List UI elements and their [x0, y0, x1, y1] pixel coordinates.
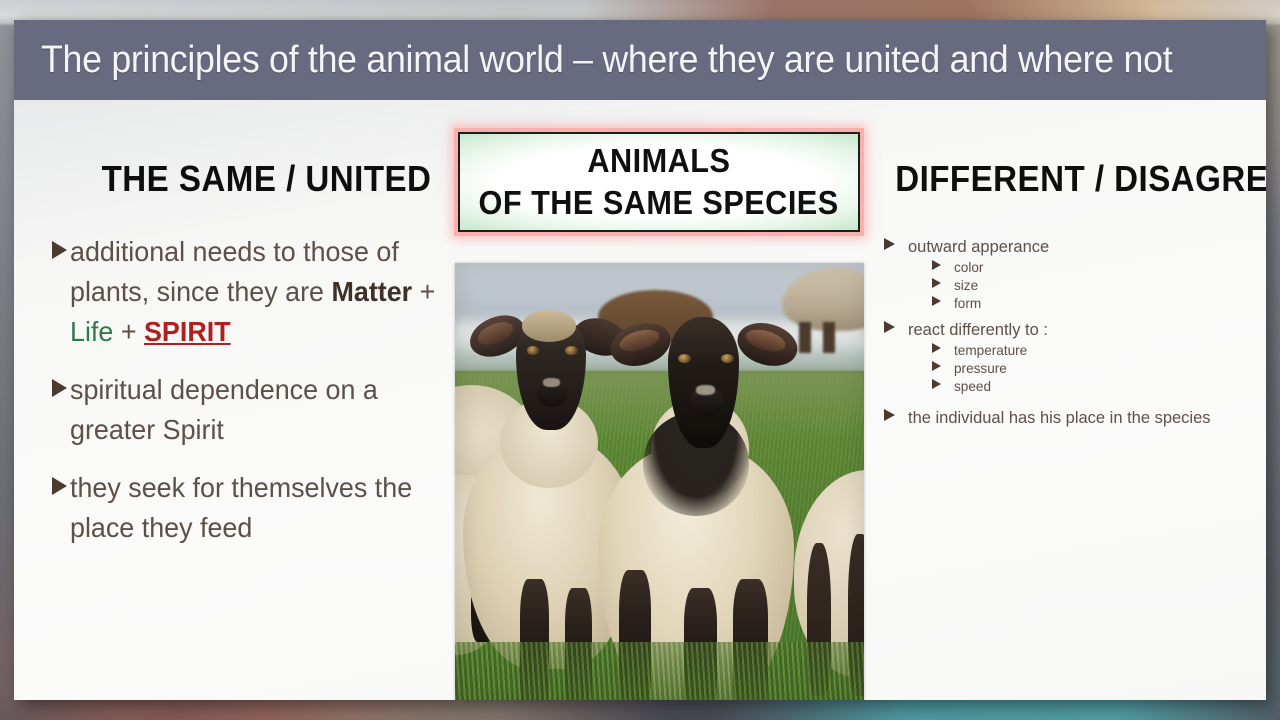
- triangle-right-icon: [52, 379, 67, 397]
- bullet-text: pressure: [954, 360, 1007, 376]
- slide-body: THE SAME / UNITED additional needs to th…: [14, 100, 1266, 700]
- slide-title-bar: The principles of the animal world – whe…: [14, 20, 1266, 100]
- list-item: pressure: [884, 360, 1262, 376]
- list-item: they seek for themselves the place they …: [52, 468, 452, 548]
- triangle-right-icon: [884, 238, 895, 250]
- list-item: spiritual dependence on a greater Spirit: [52, 370, 452, 450]
- bullet-text: spiritual dependence on a greater Spirit: [70, 370, 437, 450]
- sheep-b-eye-right: [721, 354, 734, 363]
- left-column-bullet-list: additional needs to those of plants, sin…: [52, 232, 452, 566]
- list-item: form: [884, 295, 1262, 311]
- caption-line-1: ANIMALS: [587, 140, 730, 182]
- list-item: speed: [884, 378, 1262, 394]
- bullet-text: color: [954, 259, 983, 275]
- sheep-a-eye-right: [565, 346, 577, 355]
- bullet-text-spirit: SPIRIT: [144, 316, 231, 347]
- left-column-heading: THE SAME / UNITED: [102, 158, 415, 200]
- triangle-right-icon: [52, 477, 67, 495]
- triangle-right-icon: [884, 321, 895, 333]
- triangle-right-icon: [932, 379, 941, 389]
- species-caption-inner: ANIMALS OF THE SAME SPECIES: [458, 132, 860, 232]
- bullet-text: temperature: [954, 342, 1027, 358]
- list-item: outward apperance: [884, 237, 1262, 257]
- sheep-photo: [455, 263, 864, 700]
- triangle-right-icon: [932, 343, 941, 353]
- bullet-text: outward apperance: [908, 237, 1049, 257]
- list-item: react differently to :: [884, 320, 1262, 340]
- sheep-b-eye-left: [678, 354, 691, 363]
- list-item: additional needs to those of plants, sin…: [52, 232, 452, 352]
- list-item: color: [884, 259, 1262, 275]
- bullet-text: speed: [954, 378, 991, 394]
- triangle-right-icon: [932, 361, 941, 371]
- sheep-a-poll-wool: [522, 310, 575, 342]
- photo-foreground-grass: [455, 642, 864, 700]
- background-sheep-leg: [799, 322, 811, 354]
- sheep-b-nose: [696, 385, 715, 395]
- bullet-text: additional needs to those of plants, sin…: [70, 232, 437, 352]
- bullet-text: react differently to :: [908, 320, 1048, 340]
- bullet-text-part: +: [113, 316, 144, 347]
- list-item: size: [884, 277, 1262, 293]
- caption-line-2: OF THE SAME SPECIES: [479, 182, 839, 224]
- right-column-bullet-list: outward apperance color size form react …: [884, 228, 1262, 428]
- triangle-right-icon: [932, 260, 941, 270]
- species-caption-box: ANIMALS OF THE SAME SPECIES: [454, 128, 864, 236]
- presentation-slide: The principles of the animal world – whe…: [14, 20, 1266, 700]
- bullet-text: form: [954, 295, 981, 311]
- bullet-text-part: +: [412, 276, 435, 307]
- sheep-a-eye-left: [527, 346, 539, 355]
- right-column-heading: DIFFERENT / DISAGREE: [895, 158, 1245, 200]
- bullet-text: they seek for themselves the place they …: [70, 468, 437, 548]
- list-item: temperature: [884, 342, 1262, 358]
- bullet-text-matter: Matter: [331, 276, 412, 307]
- bullet-text: the individual has his place in the spec…: [908, 408, 1211, 428]
- bullet-text-life: Life: [70, 316, 113, 347]
- background-sheep-leg: [823, 322, 835, 354]
- triangle-right-icon: [52, 241, 67, 259]
- triangle-right-icon: [884, 409, 895, 421]
- triangle-right-icon: [932, 296, 941, 306]
- slide-title: The principles of the animal world – whe…: [41, 39, 1172, 82]
- triangle-right-icon: [932, 278, 941, 288]
- sheep-a-nose: [543, 378, 560, 387]
- list-item: the individual has his place in the spec…: [884, 408, 1262, 428]
- bullet-text: size: [954, 277, 978, 293]
